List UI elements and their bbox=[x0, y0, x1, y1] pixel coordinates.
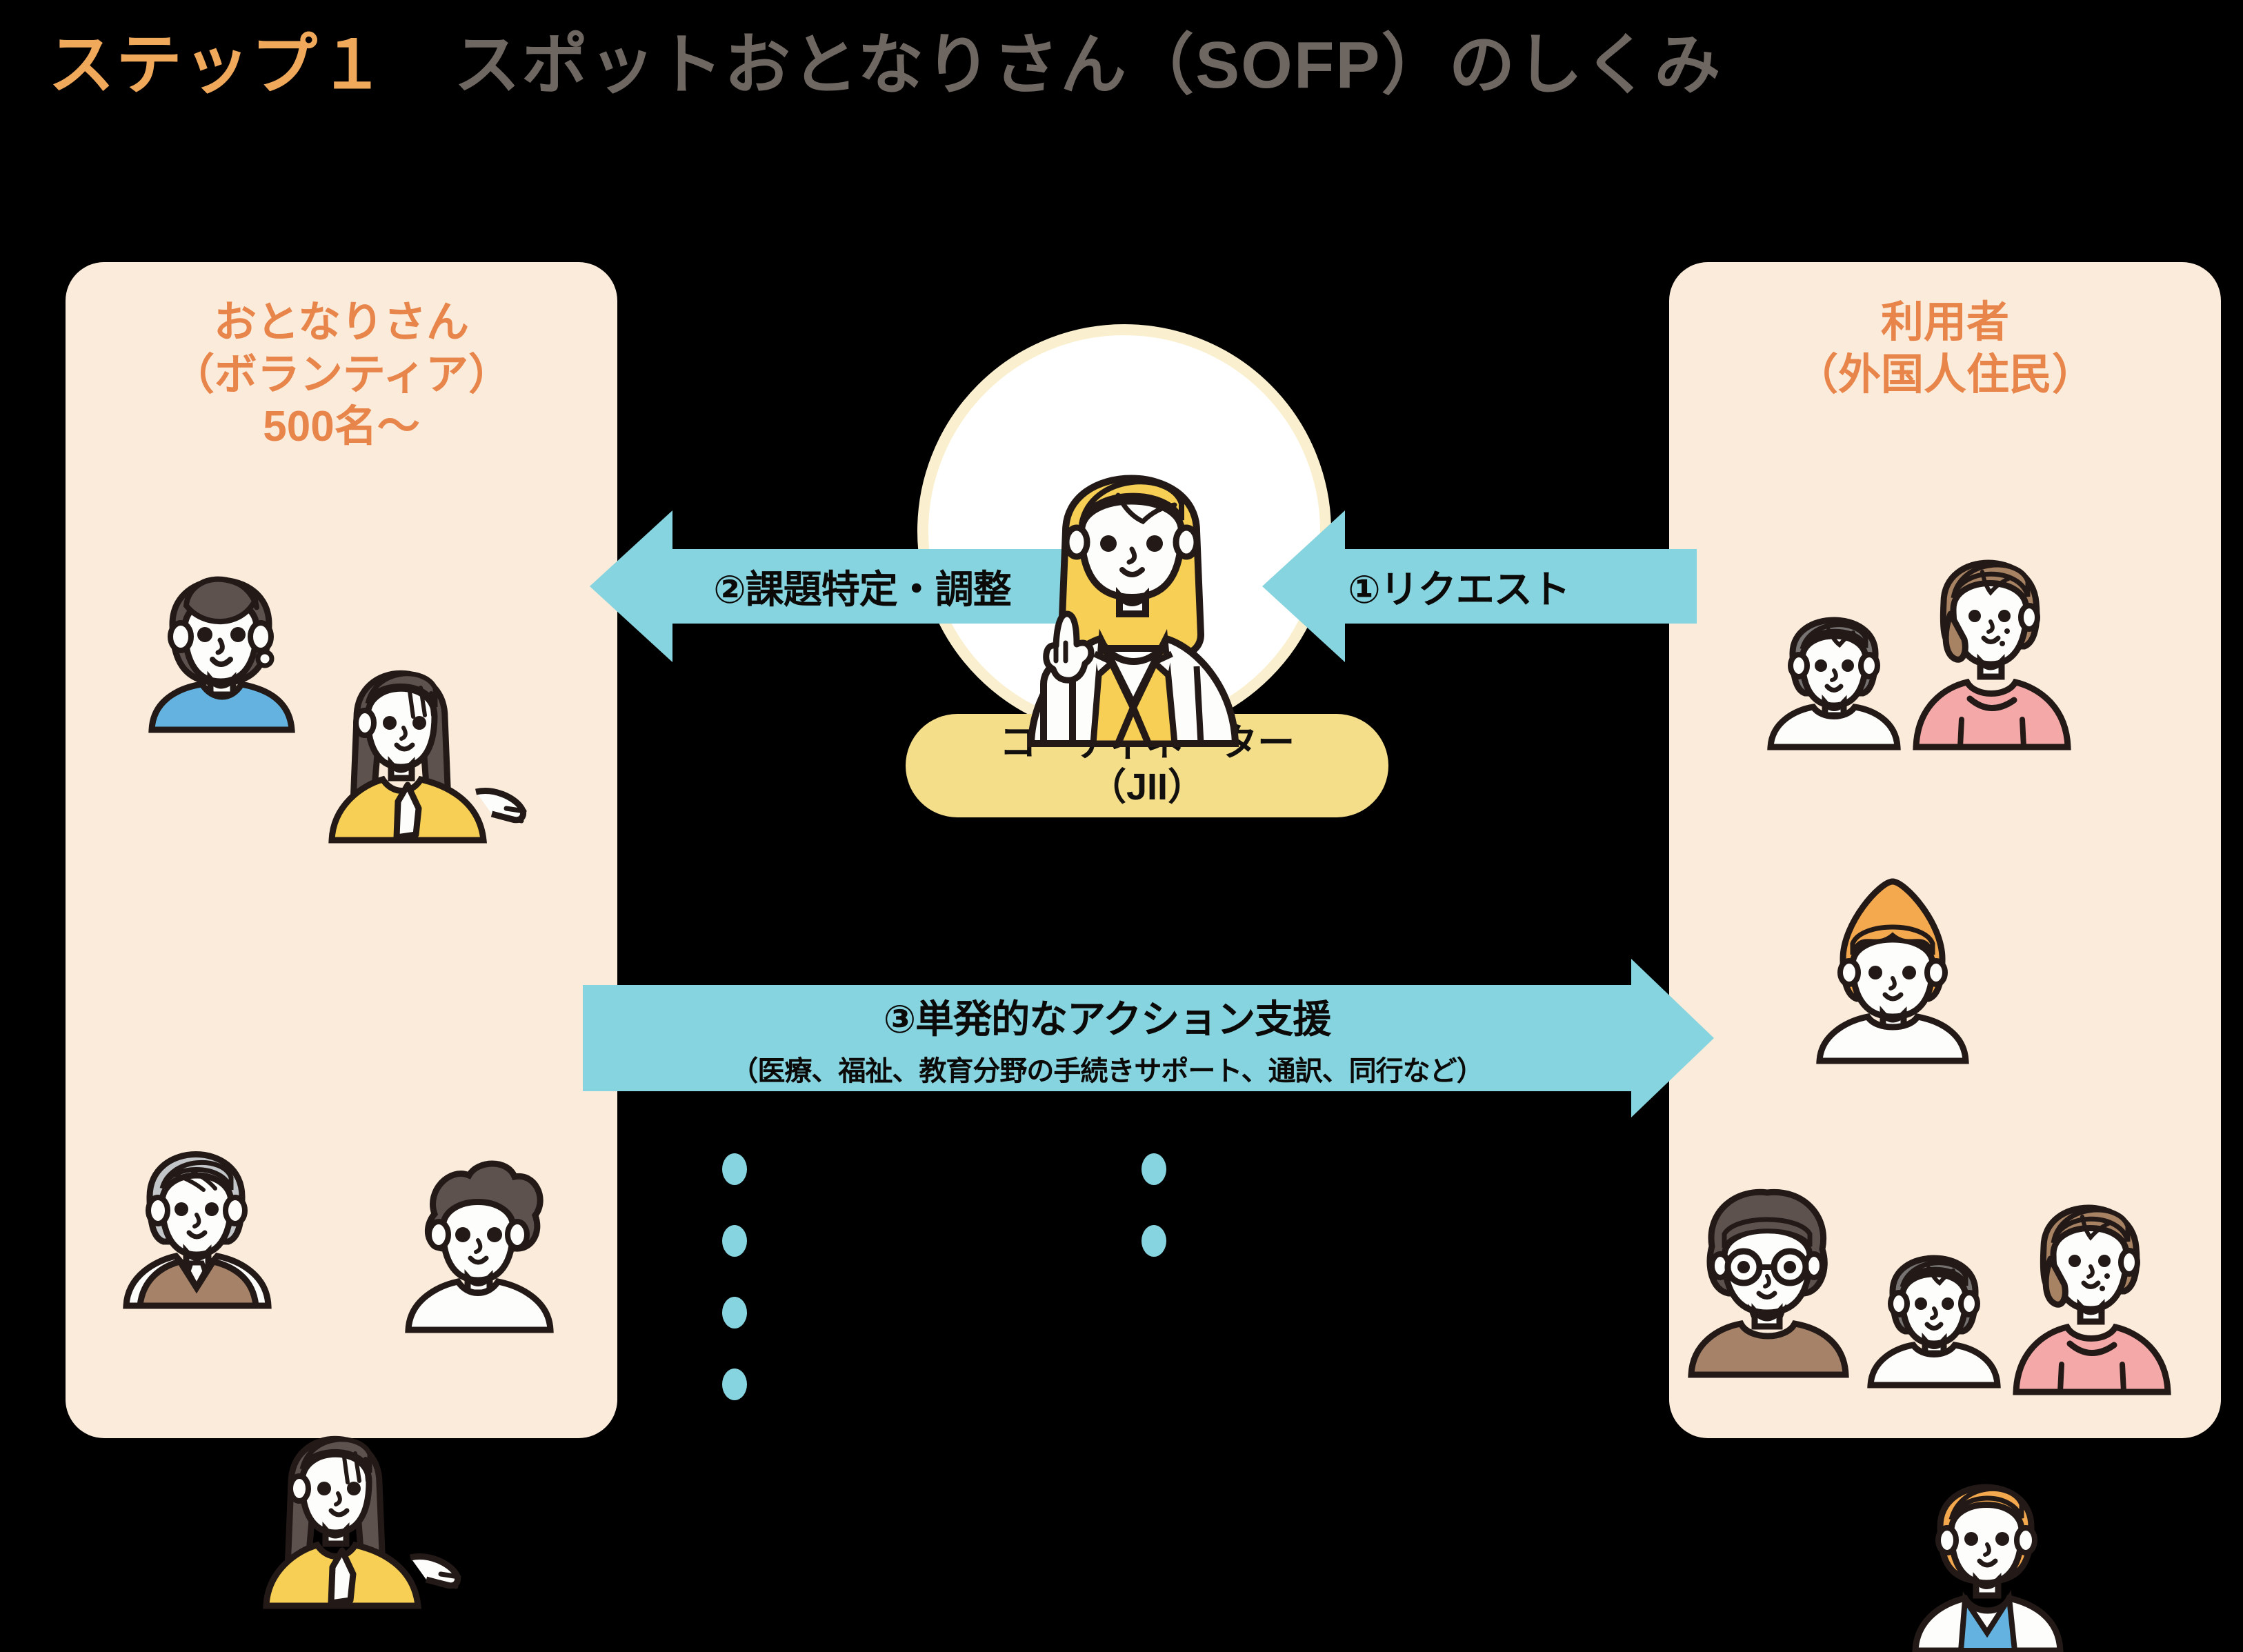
panel-volunteers-heading: おとなりさん （ボランティア） 500名〜 bbox=[66, 297, 617, 453]
panel-users: 利用者 （外国人住民） bbox=[1669, 262, 2221, 1438]
dots-column-right bbox=[1142, 1153, 1166, 1346]
slide-canvas: ステップ１ スポットおとなりさん（SOFP）のしくみ おとなりさん （ボランティ… bbox=[0, 0, 2243, 1438]
dot bbox=[1142, 1153, 1166, 1185]
avatar-man-glasses-beard-brown bbox=[1676, 1162, 1862, 1376]
avatar-senior-man-brown-vest bbox=[107, 1100, 293, 1307]
dot bbox=[722, 1153, 747, 1185]
title-step: ステップ１ bbox=[48, 28, 386, 102]
avatar-woman-bob-blue bbox=[131, 524, 310, 731]
avatar-boy-gray-white-2 bbox=[1862, 1214, 2007, 1386]
avatar-woman-orange-bob-blue bbox=[1900, 1438, 2080, 1652]
dot bbox=[1142, 1225, 1166, 1257]
avatar-woman-long-yellow bbox=[307, 607, 535, 842]
avatar-woman-ponytail-pink-2 bbox=[2004, 1166, 2183, 1393]
avatar-man-curly-white bbox=[386, 1124, 579, 1331]
dots-column-left bbox=[722, 1153, 747, 1440]
avatar-woman-long-yellow-2 bbox=[241, 1373, 469, 1607]
avatar-woman-ponytail-pink bbox=[1904, 521, 2083, 748]
arrow-request: ①リクエスト bbox=[1262, 510, 1697, 662]
arrow-action-support: ③単発的なアクション支援 （医療、福祉、教育分野の手続きサポート、通訳、同行など… bbox=[583, 959, 1714, 1117]
dot bbox=[722, 1369, 747, 1400]
avatar-man-orange-white bbox=[1807, 869, 1980, 1062]
dot bbox=[722, 1297, 747, 1328]
avatar-coordinator bbox=[990, 428, 1279, 745]
avatar-boy-gray-white bbox=[1762, 576, 1907, 748]
title-rest: スポットおとなりさん（SOFP）のしくみ bbox=[386, 28, 1722, 102]
page-title: ステップ１ スポットおとなりさん（SOFP）のしくみ bbox=[48, 28, 1722, 103]
dot bbox=[722, 1225, 747, 1257]
panel-volunteers: おとなりさん （ボランティア） 500名〜 bbox=[66, 262, 617, 1438]
panel-users-heading: 利用者 （外国人住民） bbox=[1669, 297, 2221, 401]
